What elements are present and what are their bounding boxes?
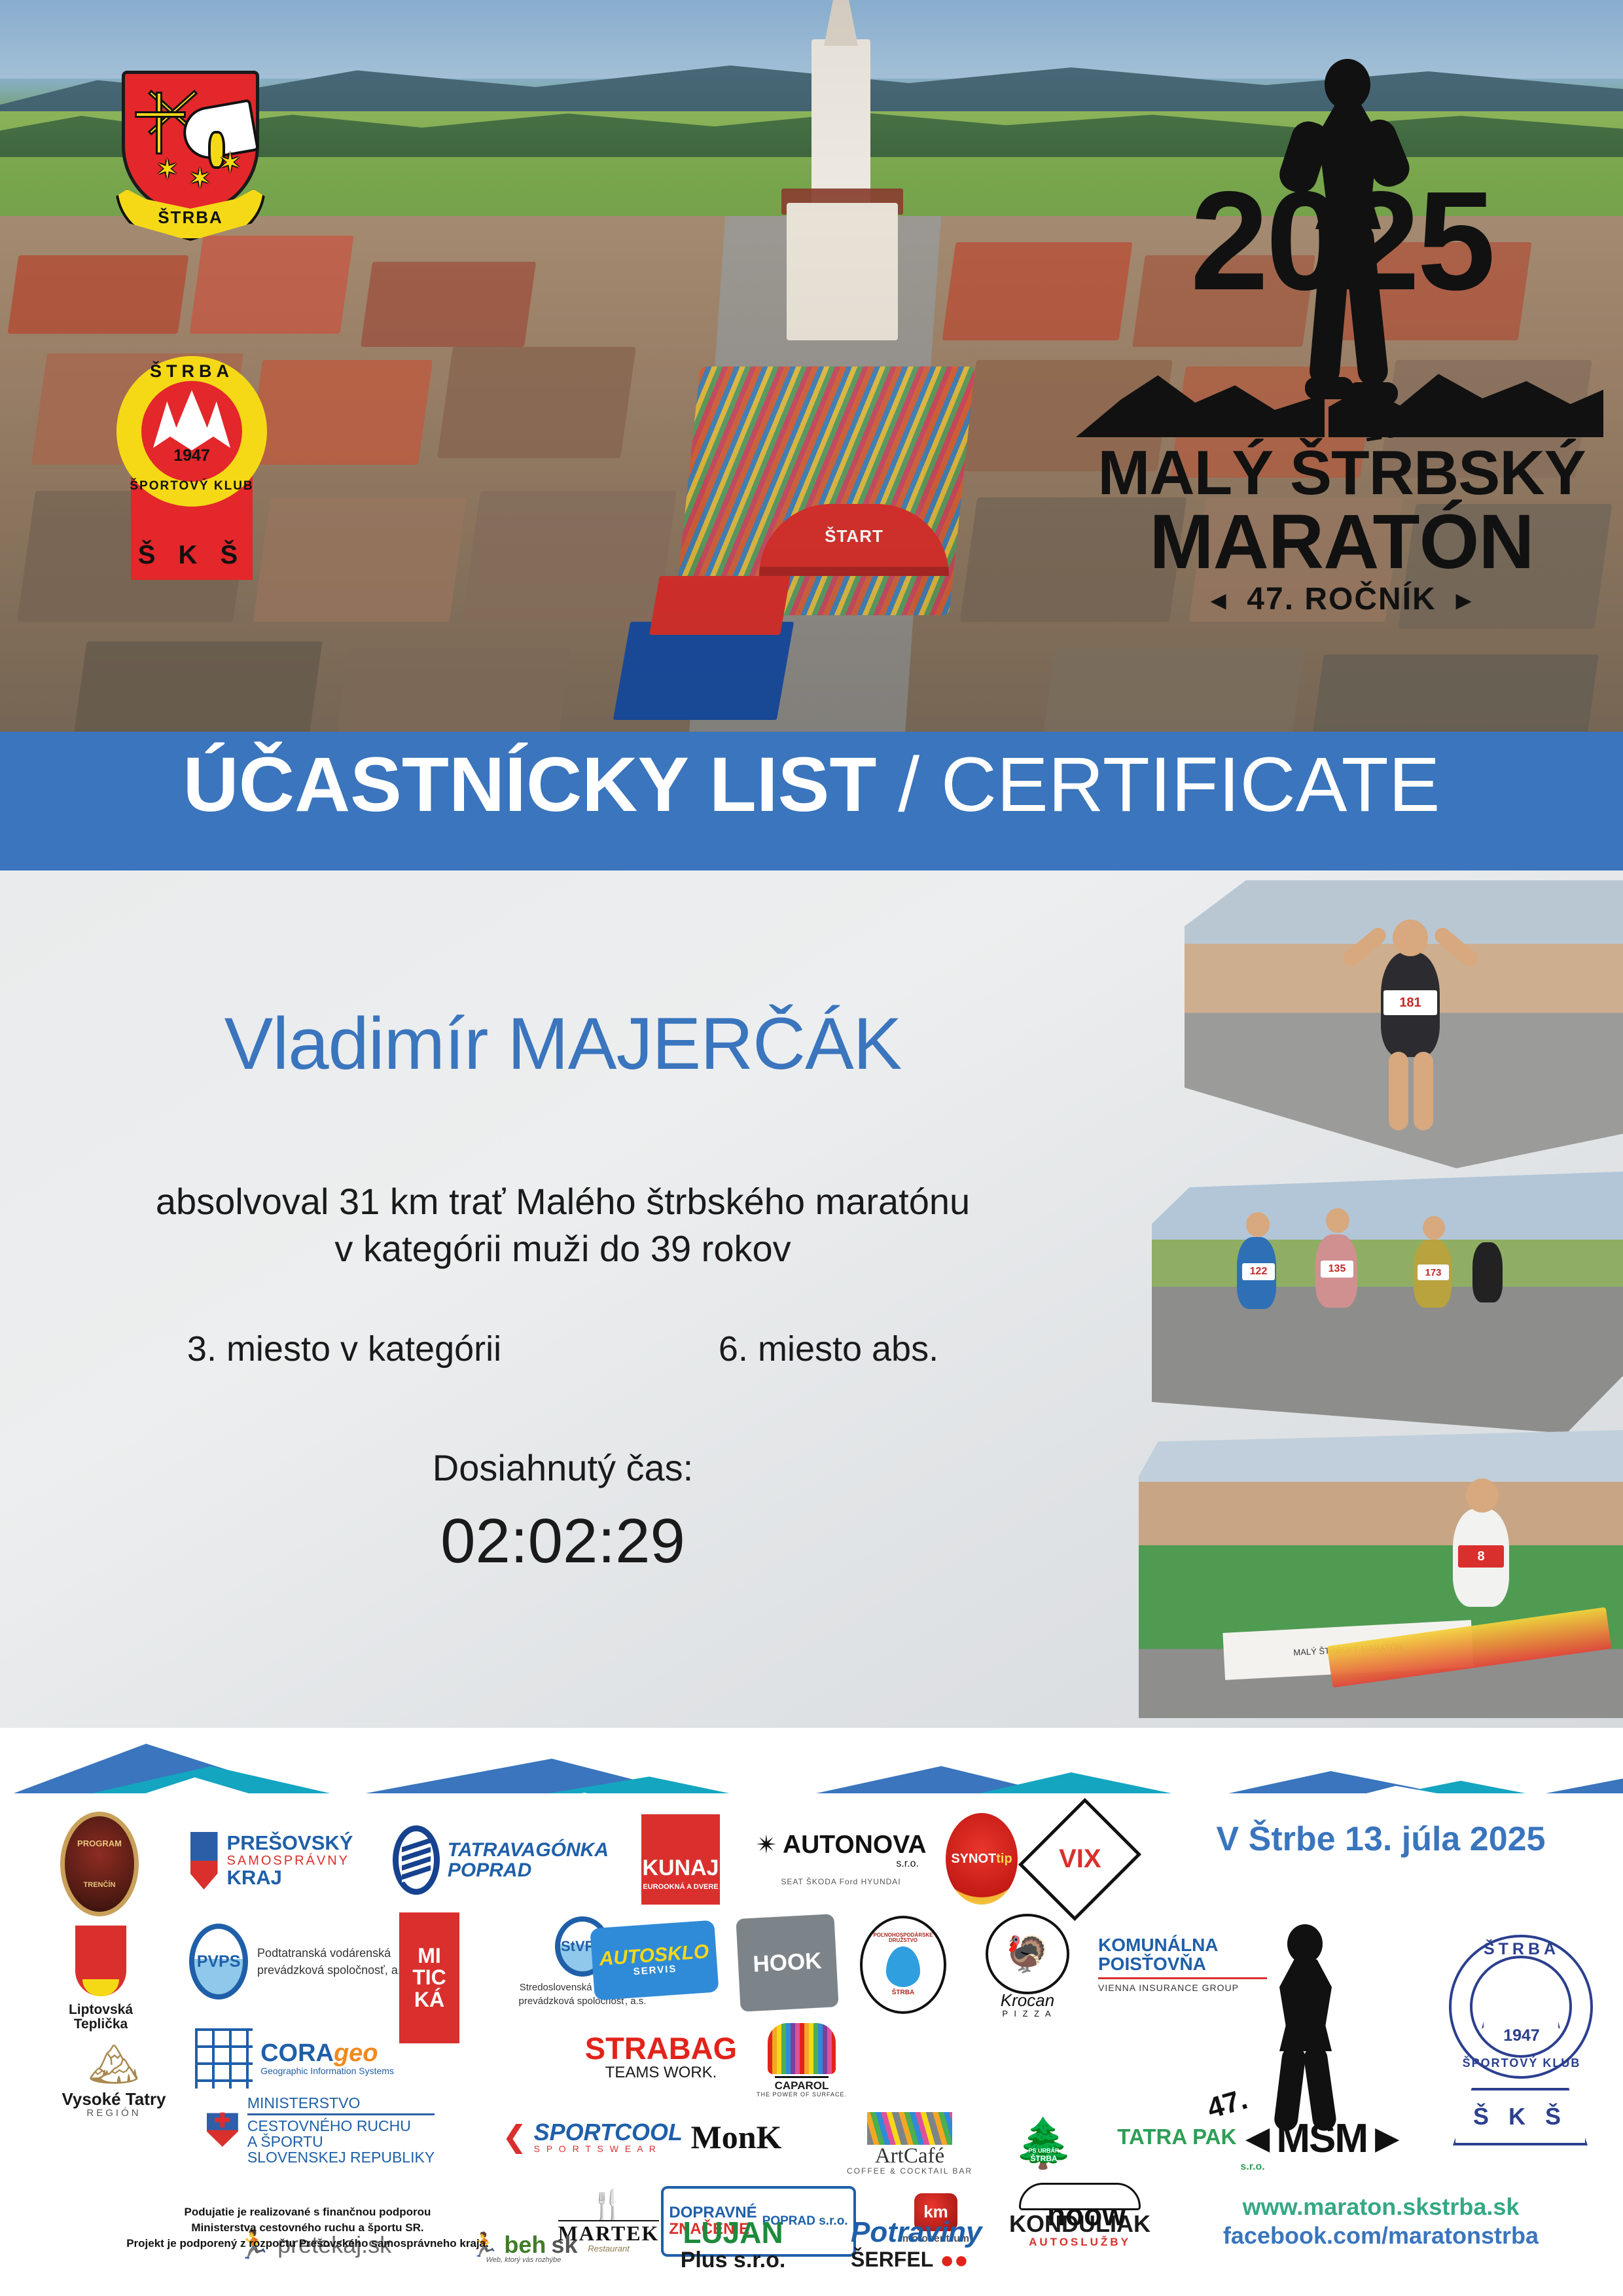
sponsor-sportcool: ❮ SPORTCOOL S P O R T S W E A R <box>494 2101 690 2173</box>
finish-ribbon <box>1327 1607 1612 1687</box>
label: s.r.o. <box>1240 2162 1264 2173</box>
sponsor-ministerstvo: ✚ MINISTERSTVO CESTOVNÉHO RUCHU A ŠPORTU… <box>164 2096 478 2194</box>
label: SAMOSPRÁVNY <box>227 1854 353 1868</box>
club-arc-bottom: ŠPORTOVÝ KLUB <box>110 479 274 493</box>
place-and-date: V Štrbe 13. júla 2025 <box>1152 1820 1610 1859</box>
fineprint-line-2: Ministerstva cestovného ruchu a športu S… <box>59 2220 556 2236</box>
label: AUTONOVA <box>783 1832 927 1859</box>
sponsor-kunaj: KUNAJ EUROOKNÁ A DVERE <box>641 1814 720 1905</box>
label: TIC <box>412 1967 446 1988</box>
sponsor-caparol: CAPAROL THE POWER OF SURFACE. <box>753 2015 851 2106</box>
label: POĽNOHOSPODÁRSKE DRUŽSTVO <box>863 1933 944 1944</box>
label: ŠTRBA <box>892 1990 914 1996</box>
label: ŠTRBA <box>1030 2155 1057 2162</box>
banner-separator: / <box>876 742 940 828</box>
label: Potraviny <box>851 2217 982 2248</box>
label: s.r.o. <box>896 1859 919 1870</box>
chamois-icon: 🏔 <box>88 2045 140 2085</box>
event-title-line2: MARATÓN <box>1067 497 1616 586</box>
label: Geographic Information Systems <box>260 2066 394 2076</box>
label: TEAMS WORK. <box>605 2065 717 2081</box>
cross-bar-icon <box>135 111 186 118</box>
turkey-icon: 🦃 <box>1005 1936 1049 1973</box>
participant-name: Vladimír MAJERČÁK <box>0 1001 1126 1086</box>
label: CAPAROL <box>775 2076 829 2092</box>
sportcool-swoosh-icon: ❮ <box>502 2121 527 2153</box>
banner-title-sk: ÚČASTNÍCKY LIST <box>183 742 877 828</box>
banner-title-en: CERTIFICATE <box>941 742 1440 828</box>
stamp-abbrev: Š K Š <box>1453 2088 1588 2145</box>
label: P I Z Z A <box>1002 2009 1052 2018</box>
place-absolute: 6. miesto abs. <box>719 1329 938 1369</box>
pvps-oval-icon: PVPS <box>189 1924 248 2000</box>
label: LUJAN <box>683 2217 783 2249</box>
bib-number: 8 <box>1458 1545 1504 1568</box>
fineprint-line-1: Podujatie je realizované s finančnou pod… <box>59 2204 556 2220</box>
facebook-link[interactable]: facebook.com/maratonstrba <box>1152 2221 1610 2250</box>
runner-body <box>1472 1242 1503 1302</box>
runner-icon <box>1260 1924 1351 2101</box>
certificate-page: ŠTART ✶ ✶ ✶ ŠTRBA ŠTRBA 1947 ŠPORTOVÝ KL… <box>0 0 1623 2296</box>
sponsor-potraviny-serfel: Potraviny ŠERFEL ●● <box>851 2206 1060 2284</box>
label: POPRAD <box>448 1860 609 1880</box>
label: COFFEE & COCKTAIL BAR <box>847 2167 972 2175</box>
sponsor-tatravagonka-poprad: TATRAVAGÓNKA POPRAD <box>393 1821 609 1899</box>
cross-icon <box>156 92 162 154</box>
banner-title: ÚČASTNÍCKY LIST / CERTIFICATE <box>0 746 1623 823</box>
strba-coat-of-arms: ✶ ✶ ✶ ŠTRBA <box>115 71 266 244</box>
label: KÁ <box>414 1989 444 2011</box>
club-year: 1947 <box>110 446 274 465</box>
runner-arm <box>1340 925 1389 970</box>
sponsor-vysoke-tatry-region: 🏔 Vysoké Tatry REGIÓN <box>55 2016 173 2147</box>
runner-arm <box>1431 925 1480 970</box>
runner-leg <box>1389 1052 1408 1130</box>
label: Plus s.r.o. <box>681 2249 786 2272</box>
sks-club-emblem: ŠTRBA 1947 ŠPORTOVÝ KLUB Š K Š <box>110 327 274 586</box>
label: TATRAVAGÓNKA <box>448 1840 609 1860</box>
label: MINISTERSTVO <box>247 2096 435 2115</box>
sponsor-strabag: STRABAG TEAMS WORK. <box>576 2021 746 2093</box>
sponsor-hook: HOOK <box>736 1914 838 2012</box>
kraj-mark-icon <box>190 1832 218 1890</box>
crest-municipality-label: ŠTRBA <box>118 207 263 228</box>
label: SERVIS <box>633 1964 677 1977</box>
runner-head <box>1326 1208 1349 1233</box>
sponsor-pd-strba: POĽNOHOSPODÁRSKE DRUŽSTVO ŠTRBA <box>851 1914 955 2015</box>
sponsor-vix: VIX <box>1034 1812 1126 1907</box>
stamp-top-label: ŠTRBA <box>1427 1940 1616 1959</box>
runner-head <box>1423 1216 1445 1240</box>
club-abbrev: Š K Š <box>110 541 274 570</box>
label: HOOK <box>753 1949 823 1977</box>
label: THE POWER OF SURFACE. <box>757 2092 847 2098</box>
funding-fineprint: Podujatie je realizované s finančnou pod… <box>59 2204 556 2251</box>
runner-silhouette-icon <box>1289 59 1407 425</box>
label: KUNAJ <box>642 1857 719 1880</box>
label: VIX <box>1059 1846 1101 1873</box>
label: Liptovská <box>69 2003 133 2017</box>
artcafe-mark-icon <box>867 2112 952 2145</box>
photo-collage: 181 122 135 173 8 MALÝ ŠTRBSKÝ MARATÓN <box>1113 874 1623 1731</box>
sks-blue-stamp: ŠTRBA 1947 ŠPORTOVÝ KLUB Š K Š <box>1427 1911 1616 2166</box>
certificate-description: absolvoval 31 km trať Malého štrbského m… <box>0 1178 1126 1272</box>
time-label: Dosiahnutý čas: <box>0 1446 1126 1489</box>
msm-wordmark: ◄MŠM► <box>1238 2115 1406 2162</box>
club-arc-top: ŠTRBA <box>110 361 274 382</box>
label: REGIÓN <box>86 2108 141 2119</box>
label: CORA <box>260 2039 334 2067</box>
label: MonK <box>691 2120 782 2154</box>
sponsor-synot-tip: SYNOT tip <box>946 1813 1018 1905</box>
label: ArtCafé <box>875 2145 944 2167</box>
slovak-crest-icon: ✚ <box>207 2096 238 2147</box>
description-line-2: v kategórii muži do 39 rokov <box>0 1225 1126 1272</box>
stamp-year: 1947 <box>1427 2026 1616 2045</box>
label: PREŠOVSKÝ <box>227 1833 353 1854</box>
time-value: 02:02:29 <box>0 1505 1126 1577</box>
label: Web, ktorý vás rozhýbe <box>486 2257 562 2264</box>
description-line-1: absolvoval 31 km trať Malého štrbského m… <box>0 1178 1126 1225</box>
sponsor-artcafe: ArtCafé COFFEE & COCKTAIL BAR <box>838 2101 982 2186</box>
sponsor-program-trencin: PROGRAM TRENČÍN <box>60 1812 139 1916</box>
label: A ŠPORTU <box>247 2134 435 2150</box>
starburst-icon: ✴ <box>755 1832 777 1859</box>
photo-finish-line: 8 MALÝ ŠTRBSKÝ MARATÓN <box>1139 1430 1623 1718</box>
label: S P O R T S W E A R <box>534 2144 683 2154</box>
bib-number: 135 <box>1321 1261 1353 1278</box>
label: TRENČÍN <box>84 1882 116 1889</box>
photo-finisher-woman: 181 <box>1185 880 1623 1168</box>
label: KRAJ <box>227 1867 353 1888</box>
label: CESTOVNÉHO RUCHU <box>247 2119 435 2134</box>
label: POISŤOVŇA <box>1098 1954 1206 1973</box>
marathon-logo: 2025 31 km 10 km MALÝ ŠTRBSKÝ MARATÓN 47… <box>1067 46 1616 609</box>
sponsor-pvps: PVPS Podtatranská vodárenská prevádzková… <box>162 1919 437 2004</box>
msm-edition-logo: 47. ◄MŠM► <box>1207 1911 1404 2160</box>
label: tip <box>996 1852 1012 1866</box>
runner-leg <box>1414 1052 1433 1130</box>
label: PVPS <box>197 1953 241 1970</box>
place-category: 3. miesto v kategórii <box>187 1329 501 1369</box>
corageo-grid-icon <box>195 2028 253 2089</box>
sponsor-autosklo-servis: AUTOSKLO SERVIS <box>590 1920 719 2001</box>
website-link[interactable]: www.maraton.skstrba.sk <box>1152 2193 1610 2221</box>
label: KOMUNÁLNA <box>1098 1935 1219 1954</box>
runner-head <box>1393 920 1428 956</box>
caparol-elephant-icon <box>768 2023 836 2074</box>
stamp-bottom-label: ŠPORTOVÝ KLUB <box>1427 2056 1616 2070</box>
label: Vysoké Tatry <box>62 2090 166 2108</box>
dots-icon: ●● <box>940 2248 969 2272</box>
pd-strba-oval-icon: POĽNOHOSPODÁRSKE DRUŽSTVO ŠTRBA <box>860 1916 946 2014</box>
sponsor-krocan-pizza: 🦃 Krocan P I Z Z A <box>969 1914 1086 2018</box>
label: Podtatranská vodárenská <box>257 1945 410 1962</box>
event-edition: 47. ROČNÍK <box>1067 581 1616 617</box>
bib-number: 181 <box>1383 990 1437 1015</box>
fineprint-line-3: Projekt je podporený z rozpočtu Prešovsk… <box>59 2236 556 2251</box>
bib-number: 122 <box>1242 1263 1275 1280</box>
photo-runners-group: 122 135 173 <box>1152 1172 1623 1433</box>
label: SEAT ŠKODA Ford HYUNDAI <box>781 1878 901 1886</box>
label: MI <box>418 1945 441 1967</box>
footer-links: www.maraton.skstrba.sk facebook.com/mara… <box>1152 2193 1610 2250</box>
label: ŠERFEL <box>851 2249 933 2270</box>
label: Krocan <box>1001 1992 1054 2009</box>
label: SYNOT <box>951 1852 996 1866</box>
sponsor-corageo: CORAgeo Geographic Information Systems <box>157 2016 432 2101</box>
sponsor-ps-urbar-strba: 🌲 PS URBÁR ŠTRBA <box>995 2096 1093 2189</box>
label: SPORTCOOL <box>534 2120 683 2144</box>
label: prevádzková spoločnosť, a.s. <box>257 1962 410 1979</box>
finisher-head <box>1466 1479 1499 1513</box>
bib-number: 173 <box>1418 1265 1449 1280</box>
placements: 3. miesto v kategórii 6. miesto abs. <box>0 1329 1126 1369</box>
label: STRABAG <box>585 2033 737 2065</box>
label: PROGRAM <box>77 1839 122 1848</box>
sponsor-lujan: LUJAN Plus s.r.o. <box>654 2206 811 2284</box>
runner-head <box>1246 1212 1270 1237</box>
sponsor-autonova: ✴ AUTONOVA s.r.o. SEAT ŠKODA Ford HYUNDA… <box>746 1813 936 1905</box>
label: geo <box>334 2039 378 2067</box>
label: SLOVENSKEJ REPUBLIKY <box>247 2150 435 2166</box>
sponsor-presovsky-kraj: PREŠOVSKÝ SAMOSPRÁVNY KRAJ <box>164 1818 380 1903</box>
tatravagonka-oval-icon <box>393 1825 440 1895</box>
liptovska-crest-icon <box>75 1926 126 1996</box>
label: EUROOKNÁ A DVERE <box>643 1884 718 1891</box>
